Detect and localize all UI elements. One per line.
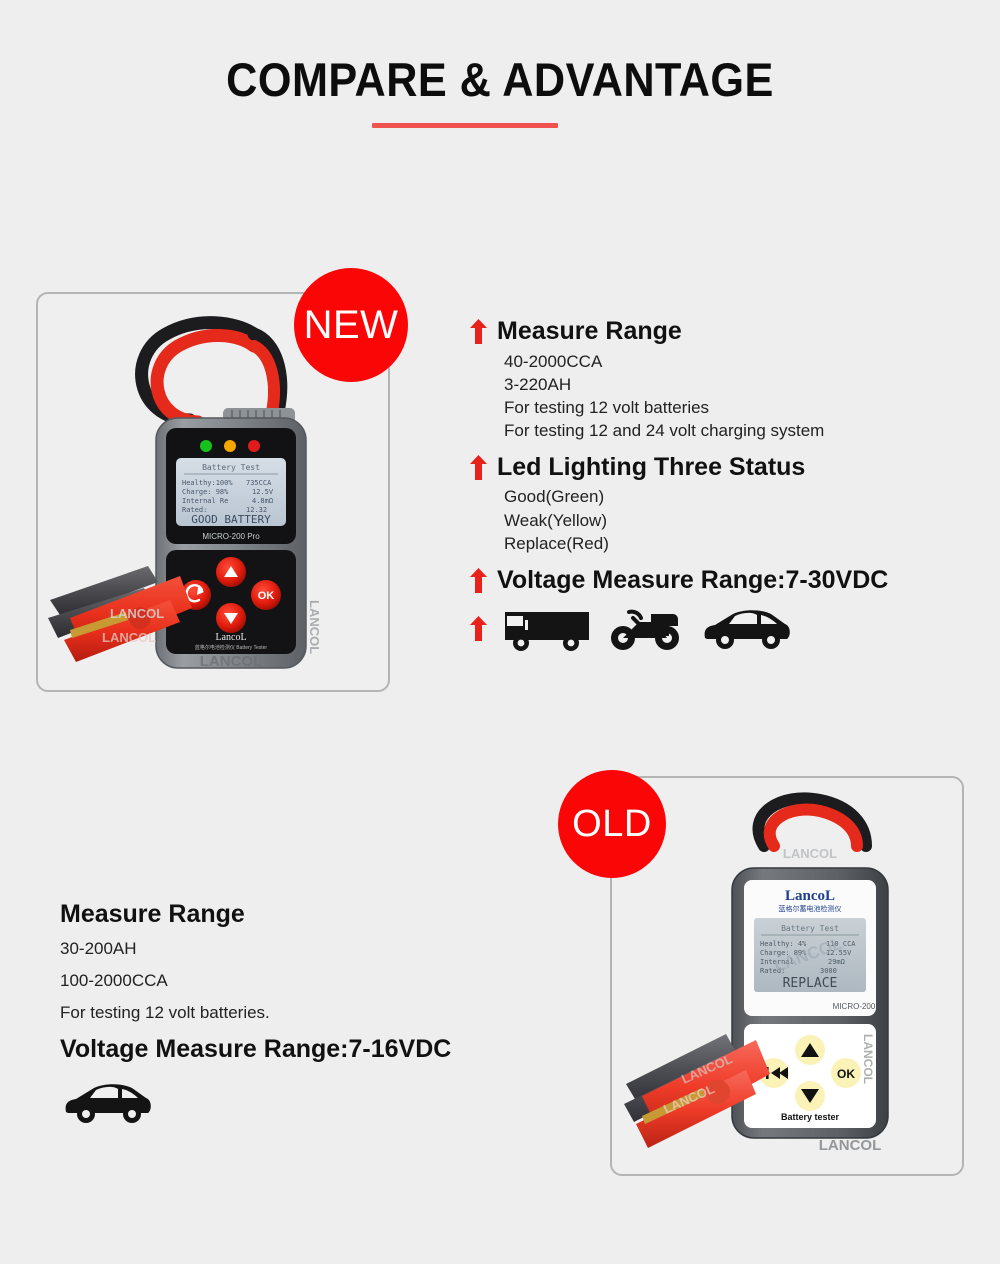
old-supported-vehicles-row (60, 1078, 580, 1131)
svg-text:4.8mΩ: 4.8mΩ (252, 497, 273, 505)
svg-text:12.5V: 12.5V (252, 488, 274, 496)
old-spec-line: 100-2000CCA (60, 971, 580, 991)
old-spec-line: 30-200AH (60, 939, 580, 959)
spec-lines-measure-range: 40-2000CCA 3-220AH For testing 12 volt b… (504, 350, 990, 442)
spec-heading-label: Measure Range (497, 318, 682, 346)
lcd-verdict: GOOD BATTERY (191, 513, 271, 526)
spec-heading-label: Led Lighting Three Status (497, 454, 805, 482)
motorcycle-icon (607, 604, 685, 652)
spec-line: 40-2000CCA (504, 350, 990, 373)
spec-heading-measure-range: Measure Range (470, 318, 990, 346)
title-underline (372, 123, 558, 128)
arrow-up-icon (470, 568, 487, 593)
arrow-up-icon (470, 319, 487, 344)
new-badge: NEW (294, 268, 408, 382)
old-spec-heading: Measure Range (60, 900, 580, 929)
spec-lines-led-status: Good(Green) Weak(Yellow) Replace(Red) (504, 485, 990, 554)
spec-line: Weak(Yellow) (504, 509, 990, 532)
car-icon (60, 1078, 156, 1126)
new-product-specs: Measure Range 40-2000CCA 3-220AH For tes… (470, 318, 990, 652)
svg-text:3000: 3000 (820, 967, 837, 975)
old-badge: OLD (558, 770, 666, 878)
spec-line: Replace(Red) (504, 532, 990, 555)
old-ok-button: OK (831, 1058, 861, 1088)
old-device-illustration: LANCOL LancoL 蓝格尔蓄电池检测仪 Battery Test Hea… (614, 784, 956, 1170)
old-spec-line: For testing 12 volt batteries. (60, 1003, 580, 1023)
led-yellow (224, 440, 236, 452)
new-device-case-watermark: LANCOL (200, 653, 263, 670)
svg-text:LANCOL: LANCOL (861, 1034, 875, 1084)
old-cable-watermark: LANCOL (783, 846, 837, 861)
car-icon (699, 604, 795, 652)
old-lcd-verdict: REPLACE (783, 976, 838, 991)
svg-text:LANCOL: LANCOL (110, 606, 164, 621)
old-device-panel-label: Battery tester (781, 1112, 840, 1122)
svg-text:LANCOL: LANCOL (200, 653, 263, 670)
new-device-brand: LancoL (215, 632, 246, 643)
supported-vehicles-row (470, 604, 990, 652)
old-device-brand: LancoL (785, 888, 835, 904)
svg-text:Charge: 98%: Charge: 98% (182, 488, 229, 496)
old-device-case-watermark: LANCOL (819, 1137, 882, 1154)
new-device-model-label: MICRO-200 Pro (202, 532, 260, 541)
svg-text:Internal Re: Internal Re (182, 497, 228, 505)
old-device-model-label: MICRO-200 (833, 1002, 876, 1011)
old-down-button (795, 1081, 825, 1111)
spec-line: 3-220AH (504, 373, 990, 396)
new-device-brand-sub: 蓝格尔电池检测仪 Battery Tester (195, 644, 267, 651)
spec-line: For testing 12 and 24 volt charging syst… (504, 419, 990, 442)
truck-icon (501, 604, 593, 652)
cable-loops (142, 323, 281, 422)
down-button (216, 603, 246, 633)
arrow-up-icon (470, 455, 487, 480)
led-red (248, 440, 260, 452)
old-voltage-range: Voltage Measure Range:7-16VDC (60, 1035, 580, 1064)
old-product-specs: Measure Range 30-200AH 100-2000CCA For t… (60, 900, 580, 1131)
old-lcd-title: Battery Test (781, 924, 839, 933)
ok-button: OK (251, 580, 281, 610)
spec-heading-voltage-range: Voltage Measure Range:7-30VDC (470, 567, 990, 595)
up-button (216, 557, 246, 587)
spec-heading-led-status: Led Lighting Three Status (470, 454, 990, 482)
led-green (200, 440, 212, 452)
svg-text:735CCA: 735CCA (246, 479, 272, 487)
spec-heading-label: Voltage Measure Range:7-30VDC (497, 567, 888, 595)
old-up-button (795, 1035, 825, 1065)
page-title: COMPARE & ADVANTAGE (40, 52, 960, 107)
svg-text:LANCOL: LANCOL (307, 600, 322, 654)
svg-text:OK: OK (258, 590, 275, 602)
arrow-up-icon (470, 616, 487, 641)
old-device-brand-sub: 蓝格尔蓄电池检测仪 (779, 904, 842, 913)
spec-line: For testing 12 volt batteries (504, 396, 990, 419)
svg-text:OK: OK (837, 1067, 855, 1081)
old-cable-loops (758, 798, 866, 846)
svg-text:29mΩ: 29mΩ (828, 958, 845, 966)
svg-text:Healthy:100%: Healthy:100% (182, 479, 233, 487)
spec-line: Good(Green) (504, 485, 990, 508)
lcd-title: Battery Test (202, 463, 260, 472)
svg-text:LANCOL: LANCOL (102, 630, 156, 645)
old-device-photo: LANCOL LancoL 蓝格尔蓄电池检测仪 Battery Test Hea… (614, 784, 956, 1170)
